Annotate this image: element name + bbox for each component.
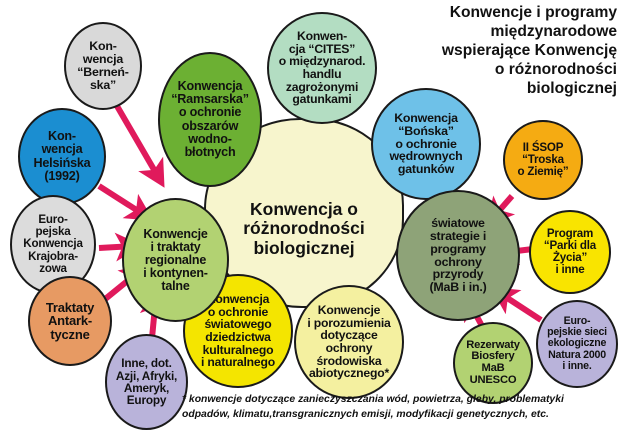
- footnote-text: * konwencje dotyczące zanieczyszczania w…: [182, 392, 614, 422]
- node-label: Traktaty Antark- tyczne: [46, 301, 94, 342]
- diagram-canvas: Konwencja o różnorodności biologicznej K…: [0, 0, 621, 434]
- node-label: Konwencje i porozumienia dotyczące ochro…: [307, 304, 390, 380]
- node-label: Kon- wencja “Berneń- ska”: [77, 40, 128, 92]
- node-inne-kontynenty[interactable]: Inne, dot. Azji, Afryki, Ameryk, Europy: [105, 334, 188, 430]
- hub-right-label: światowe strategie i programy ochrony pr…: [430, 217, 487, 294]
- node-label: Konwencja “Ramsarska” o ochronie obszaró…: [171, 80, 249, 159]
- node-label: Inne, dot. Azji, Afryki, Ameryk, Europy: [116, 357, 177, 406]
- node-konwencje-abiotyczne[interactable]: Konwencje i porozumienia dotyczące ochro…: [294, 285, 404, 399]
- hub-node-global-strategies[interactable]: światowe strategie i programy ochrony pr…: [396, 190, 520, 321]
- node-program-parki-dla-zycia[interactable]: Program “Parki dla Życia” i inne: [529, 210, 611, 294]
- node-label: Program “Parki dla Życia” i inne: [544, 228, 596, 276]
- page-title: Konwencje i programy międzynarodowe wspi…: [377, 3, 617, 98]
- node-label: Rezerwaty Biosfery MaB UNESCO: [466, 340, 520, 387]
- node-label: Euro- pejska Konwencja Krajobra- zowa: [23, 214, 82, 274]
- node-label: Euro- pejskie sieci ekologiczne Natura 2…: [547, 316, 607, 371]
- node-label: Kon- wencja Helsińska (1992): [33, 130, 90, 182]
- node-konwencja-ramsarska[interactable]: Konwencja “Ramsarska” o ochronie obszaró…: [158, 52, 262, 187]
- hub-node-regional-treaties[interactable]: Konwencje i traktaty regionalne i kontyn…: [122, 198, 229, 322]
- arrow-helsinska-to-left-hub: [99, 186, 146, 216]
- hub-left-label: Konwencje i traktaty regionalne i kontyn…: [143, 228, 207, 293]
- node-konwencja-bonska[interactable]: Konwencja “Bońska” o ochronie wędrownych…: [371, 88, 481, 200]
- node-ii-ssop-troska-o-ziemie[interactable]: II ŚSOP “Troska o Ziemię”: [503, 120, 583, 200]
- core-label: Konwencja o różnorodności biologicznej: [243, 200, 365, 259]
- node-label: Konwencja “Bońska” o ochronie wędrownych…: [389, 112, 462, 176]
- node-konwencja-bernenska[interactable]: Kon- wencja “Berneń- ska”: [64, 22, 142, 110]
- node-label: II ŚSOP “Troska o Ziemię”: [517, 142, 568, 178]
- node-konwencja-cites[interactable]: Konwen- cja “CITES” o międzynarod. handl…: [267, 12, 377, 124]
- node-traktaty-antarktyczne[interactable]: Traktaty Antark- tyczne: [28, 276, 112, 366]
- node-natura-2000[interactable]: Euro- pejskie sieci ekologiczne Natura 2…: [536, 300, 618, 388]
- node-konwencja-helsinska[interactable]: Kon- wencja Helsińska (1992): [18, 108, 106, 205]
- node-label: Konwen- cja “CITES” o międzynarod. handl…: [279, 30, 366, 106]
- arrow-bernenska-to-left-hub: [117, 106, 160, 180]
